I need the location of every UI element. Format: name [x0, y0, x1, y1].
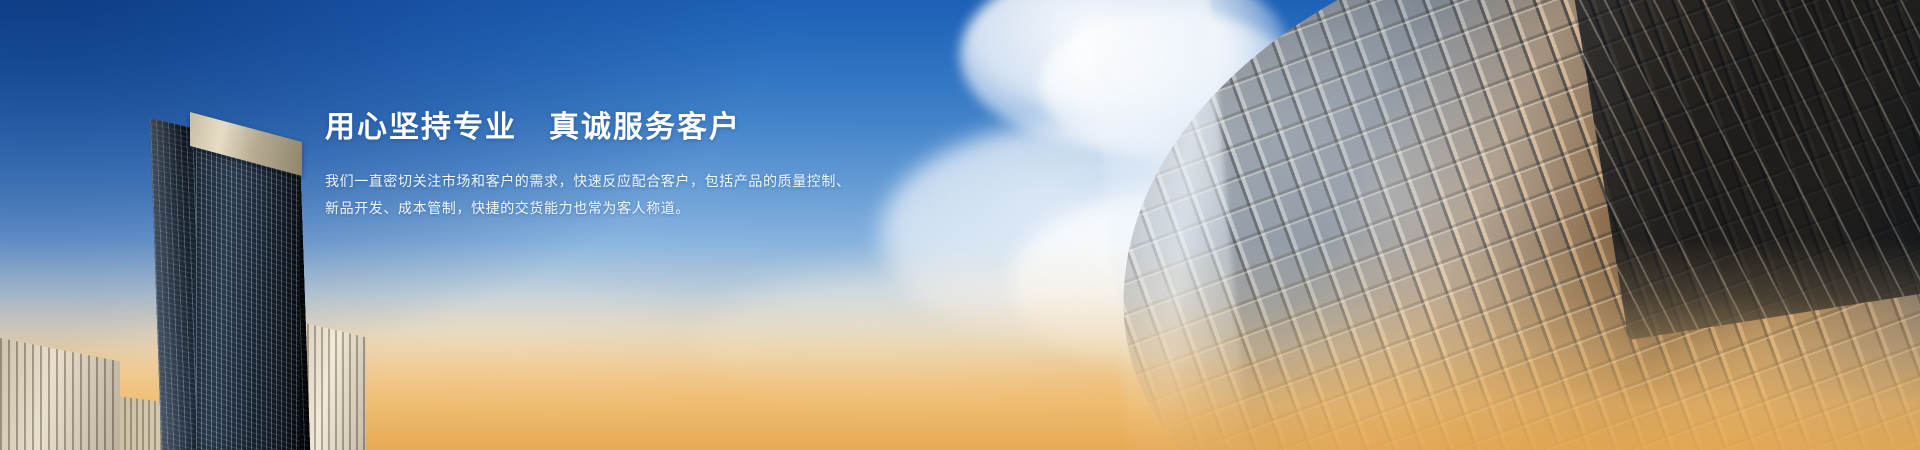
banner-headline: 用心坚持专业 真诚服务客户	[325, 108, 945, 148]
hero-banner: 用心坚持专业 真诚服务客户 我们一直密切关注市场和客户的需求，快速反应配合客户，…	[0, 0, 1920, 450]
banner-subtext: 我们一直密切关注市场和客户的需求，快速反应配合客户，包括产品的质量控制、 新品开…	[325, 168, 945, 222]
banner-content: 用心坚持专业 真诚服务客户 我们一直密切关注市场和客户的需求，快速反应配合客户，…	[325, 108, 945, 222]
left-skyscraper-side-face	[196, 136, 300, 450]
banner-subtext-line-2: 新品开发、成本管制，快捷的交货能力也常为客人称道。	[325, 195, 945, 222]
banner-subtext-line-1: 我们一直密切关注市场和客户的需求，快速反应配合客户，包括产品的质量控制、	[325, 168, 945, 195]
lowrise-building-2	[300, 322, 366, 450]
